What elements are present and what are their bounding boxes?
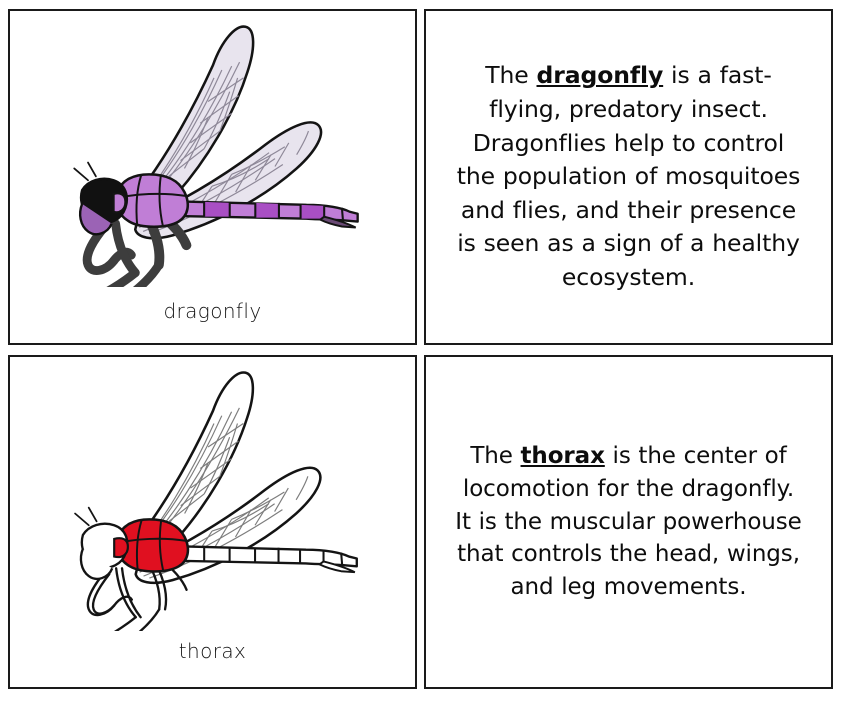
dragonfly-illustration-colored (10, 11, 415, 287)
picture-label-thorax: thorax (10, 639, 415, 663)
neck (114, 193, 126, 212)
text-card-body-dragonfly: The dragonfly is a fast-flying, predator… (426, 11, 831, 343)
picture-label-dragonfly: dragonfly (10, 299, 415, 323)
definition-paragraph-dragonfly: The dragonfly is a fast-flying, predator… (452, 59, 805, 294)
dragonfly-svg-thorax (10, 357, 415, 631)
definition-paragraph-thorax: The thorax is the center of locomotion f… (452, 440, 805, 604)
definition-term-thorax: thorax (521, 443, 605, 469)
picture-card-thorax: thorax (8, 355, 417, 689)
definition-term-dragonfly: dragonfly (537, 61, 664, 89)
nomenclature-card-sheet: dragonfly The dragonfly is a fast-flying… (0, 0, 842, 701)
dragonfly-svg-colored (10, 11, 415, 287)
leg-middle-lower (102, 273, 135, 287)
definition-prefix: The (470, 443, 520, 469)
text-card-dragonfly: The dragonfly is a fast-flying, predator… (424, 9, 833, 345)
picture-card-dragonfly: dragonfly (8, 9, 417, 345)
text-card-body-thorax: The thorax is the center of locomotion f… (426, 357, 831, 687)
definition-prefix: The (485, 61, 536, 89)
abdomen-seg-dark-1 (204, 202, 230, 217)
abdomen-seg-dark-2 (255, 203, 279, 218)
abdomen-seg-dark-3 (301, 205, 325, 219)
antennae-bw (75, 508, 97, 526)
antennae (74, 163, 96, 181)
leg-middle-lower-bw (102, 617, 135, 631)
neck-highlighted (114, 538, 128, 557)
definition-suffix: is a fast-flying, predatory insect. Drag… (457, 61, 801, 291)
leg-middle-upper-bw (116, 568, 136, 617)
leg-middle-upper (116, 224, 136, 273)
text-card-thorax: The thorax is the center of locomotion f… (424, 355, 833, 689)
dragonfly-illustration-thorax (10, 357, 415, 631)
